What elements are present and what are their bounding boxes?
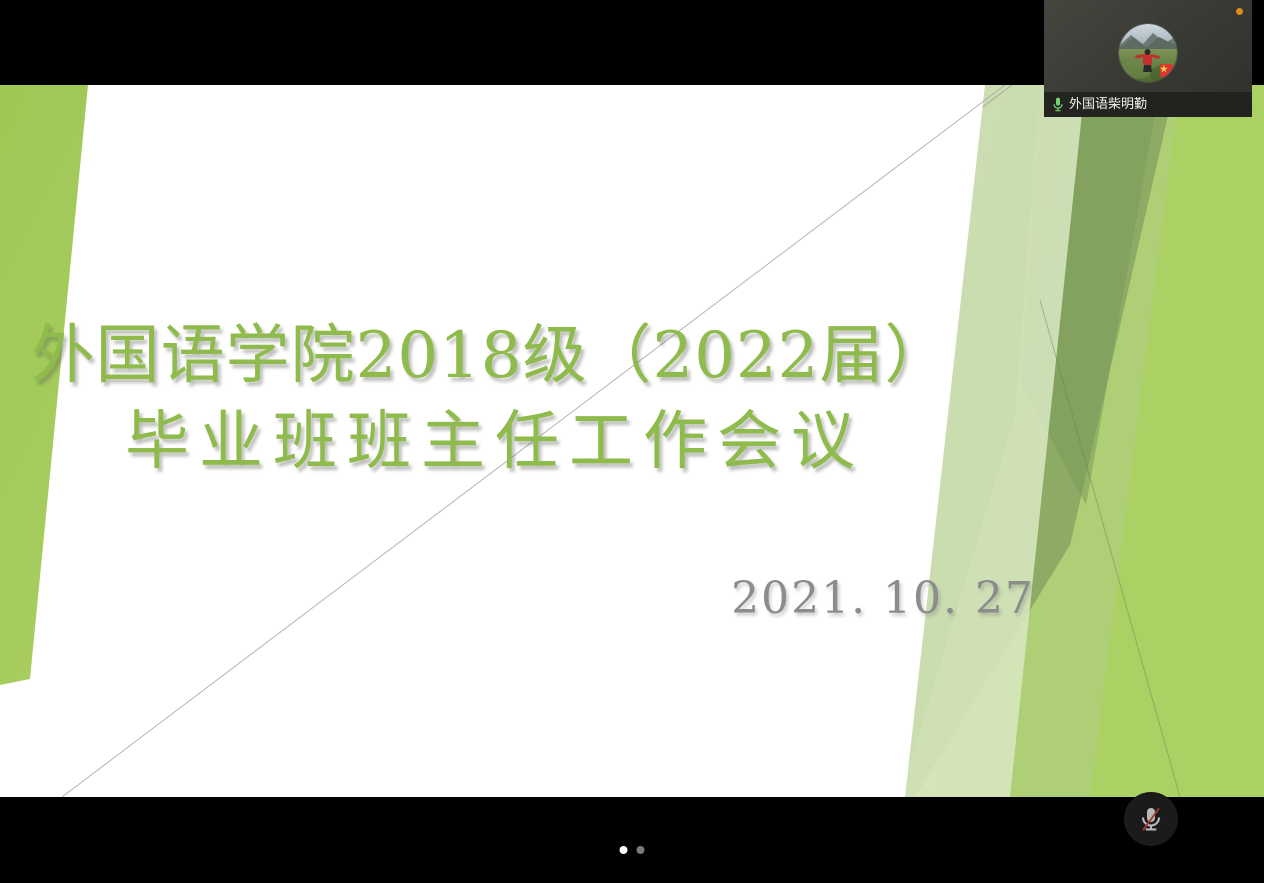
page-dot-1[interactable] [620, 846, 628, 854]
shared-slide[interactable]: 外国语学院2018级（2022届） 毕业班班主任工作会议 2021. 10. 2… [0, 85, 1264, 797]
bottom-control-bar [0, 797, 1264, 883]
recording-status-dot [1236, 8, 1243, 15]
participant-name: 外国语柴明勤 [1069, 97, 1147, 112]
participant-name-bar: 外国语柴明勤 [1044, 92, 1252, 117]
avatar [1119, 24, 1177, 82]
microphone-icon [1052, 97, 1064, 112]
meeting-screen: 外国语学院2018级（2022届） 毕业班班主任工作会议 2021. 10. 2… [0, 0, 1264, 883]
page-indicator[interactable] [620, 846, 645, 854]
mute-toggle-button[interactable] [1124, 792, 1178, 846]
slide-background-graphics [0, 85, 1264, 797]
participant-video-tile[interactable]: 外国语柴明勤 [1044, 0, 1252, 117]
microphone-muted-icon [1136, 804, 1166, 834]
page-dot-2[interactable] [637, 846, 645, 854]
shape-white-cut [0, 85, 985, 797]
